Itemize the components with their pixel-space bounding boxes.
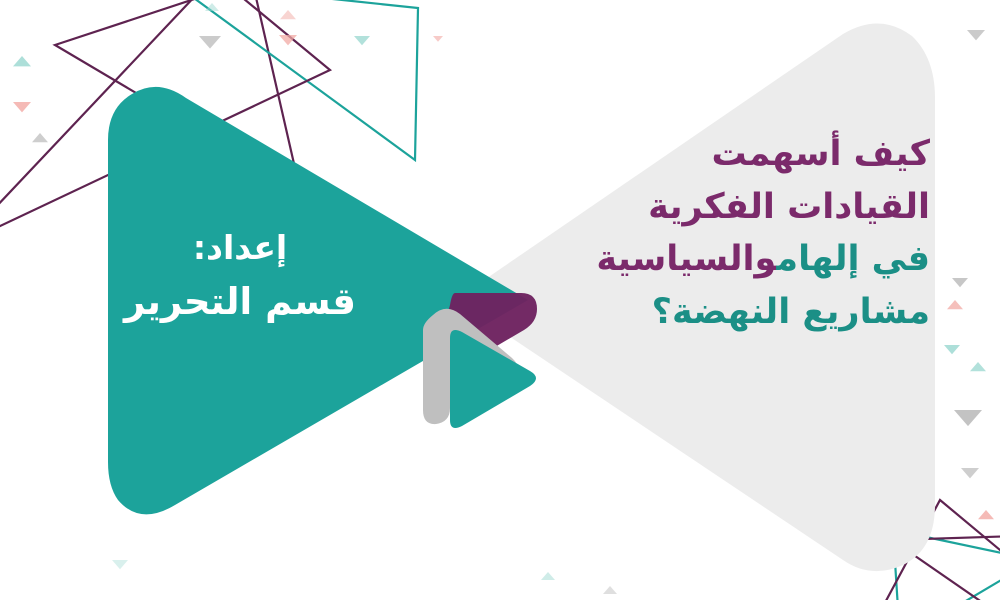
question-headline: كيف أسهمت القيادات الفكرية في إلهاموالسي… bbox=[540, 128, 930, 338]
credit-value: قسم التحرير bbox=[120, 273, 360, 330]
question-line-2: القيادات الفكرية bbox=[540, 181, 930, 234]
credit-block: إعداد: قسم التحرير bbox=[120, 222, 360, 330]
credit-label: إعداد: bbox=[120, 222, 360, 273]
question-line-3: في إلهاموالسياسية bbox=[540, 233, 930, 286]
question-line-4: مشاريع النهضة؟ bbox=[540, 286, 930, 339]
question-line-3-purple-part: والسياسية bbox=[596, 239, 776, 279]
question-line-3-teal-part: في إلهام bbox=[776, 239, 930, 279]
poster-canvas: إعداد: قسم التحرير كيف أسهمت القيادات ال… bbox=[0, 0, 1000, 600]
question-line-1: كيف أسهمت bbox=[540, 128, 930, 181]
